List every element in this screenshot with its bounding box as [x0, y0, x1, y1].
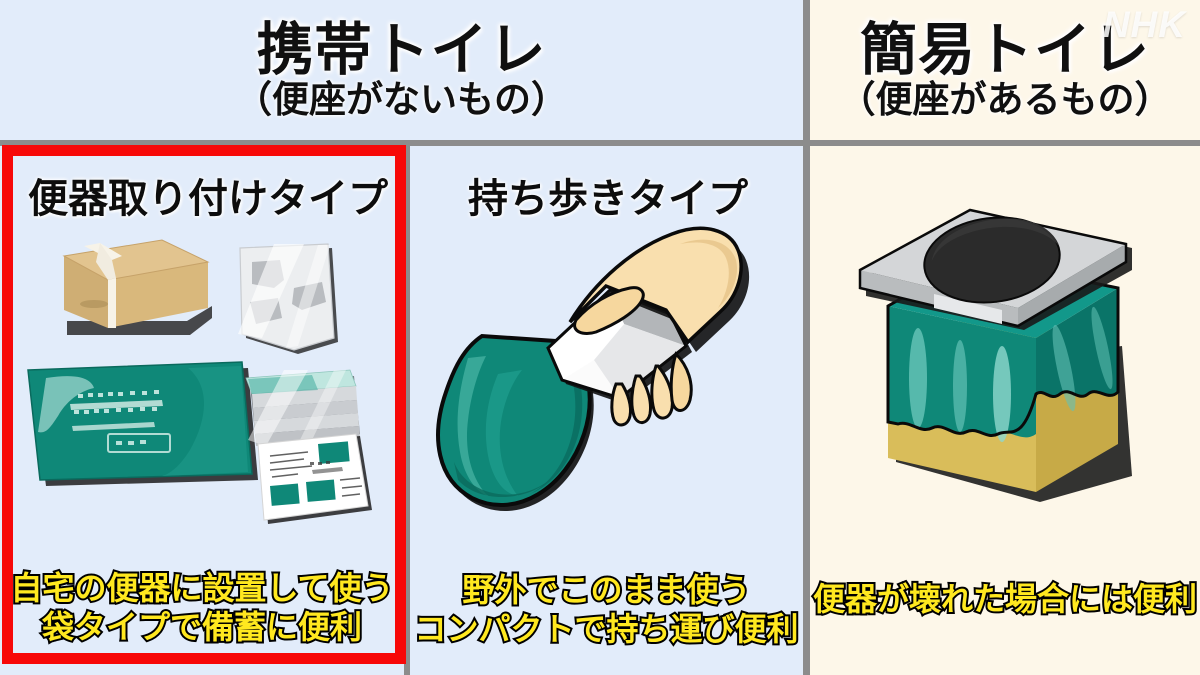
caption-carry-around: 野外でこのまま使う コンパクトで持ち運び便利	[410, 571, 803, 649]
caption-toilet-mounted: 自宅の便器に設置して使う 袋タイプで備蓄に便利	[0, 569, 404, 647]
column-simple-toilet-box: 便器が壊れた場合には便利	[810, 146, 1200, 675]
infographic-root: 携帯トイレ （便座がないもの） 簡易トイレ （便座があるもの） NHK 便器取り…	[0, 0, 1200, 675]
illustration-cardboard-box-toilet	[826, 196, 1186, 541]
illustration-hand-holding-bag	[424, 208, 794, 548]
illustration-kit-box-bag-packets	[12, 218, 392, 538]
column-carry-around-type: 持ち歩きタイプ	[410, 146, 803, 675]
caption-line-1: 便器が壊れた場合には便利	[810, 580, 1200, 619]
column-toilet-mounted-type: 便器取り付けタイプ	[0, 146, 404, 675]
header-portable-toilet: 携帯トイレ （便座がないもの）	[0, 0, 803, 140]
caption-line-2: 袋タイプで備蓄に便利	[0, 608, 404, 647]
caption-simple-toilet: 便器が壊れた場合には便利	[810, 580, 1200, 619]
header-title-portable: 携帯トイレ	[257, 21, 547, 79]
header-subtitle-portable: （便座がないもの）	[235, 81, 568, 120]
nhk-logo-watermark: NHK	[1103, 4, 1186, 46]
caption-line-2: コンパクトで持ち運び便利	[410, 610, 803, 649]
caption-line-1: 自宅の便器に設置して使う	[0, 569, 404, 608]
column-title-toilet-mounted: 便器取り付けタイプ	[28, 166, 388, 224]
caption-line-1: 野外でこのまま使う	[410, 571, 803, 610]
header-subtitle-simple: （便座があるもの）	[839, 81, 1172, 120]
